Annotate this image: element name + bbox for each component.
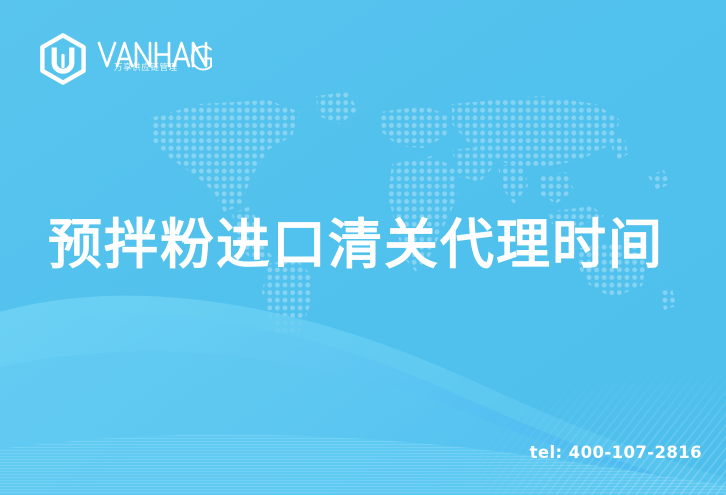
- headline-title: 预拌粉进口清关代理时间: [48, 216, 664, 274]
- vanhang-hexagon-u-mark-icon: [38, 33, 88, 85]
- logo-text: 万享供应链管理: [96, 35, 214, 83]
- promo-banner: 万享供应链管理 预拌粉进口清关代理时间 tel: 400-107-2816: [0, 0, 726, 495]
- logo-subtitle: 万享供应链管理: [114, 64, 178, 73]
- logo[interactable]: 万享供应链管理: [38, 33, 214, 85]
- contact-phone[interactable]: tel: 400-107-2816: [530, 443, 702, 462]
